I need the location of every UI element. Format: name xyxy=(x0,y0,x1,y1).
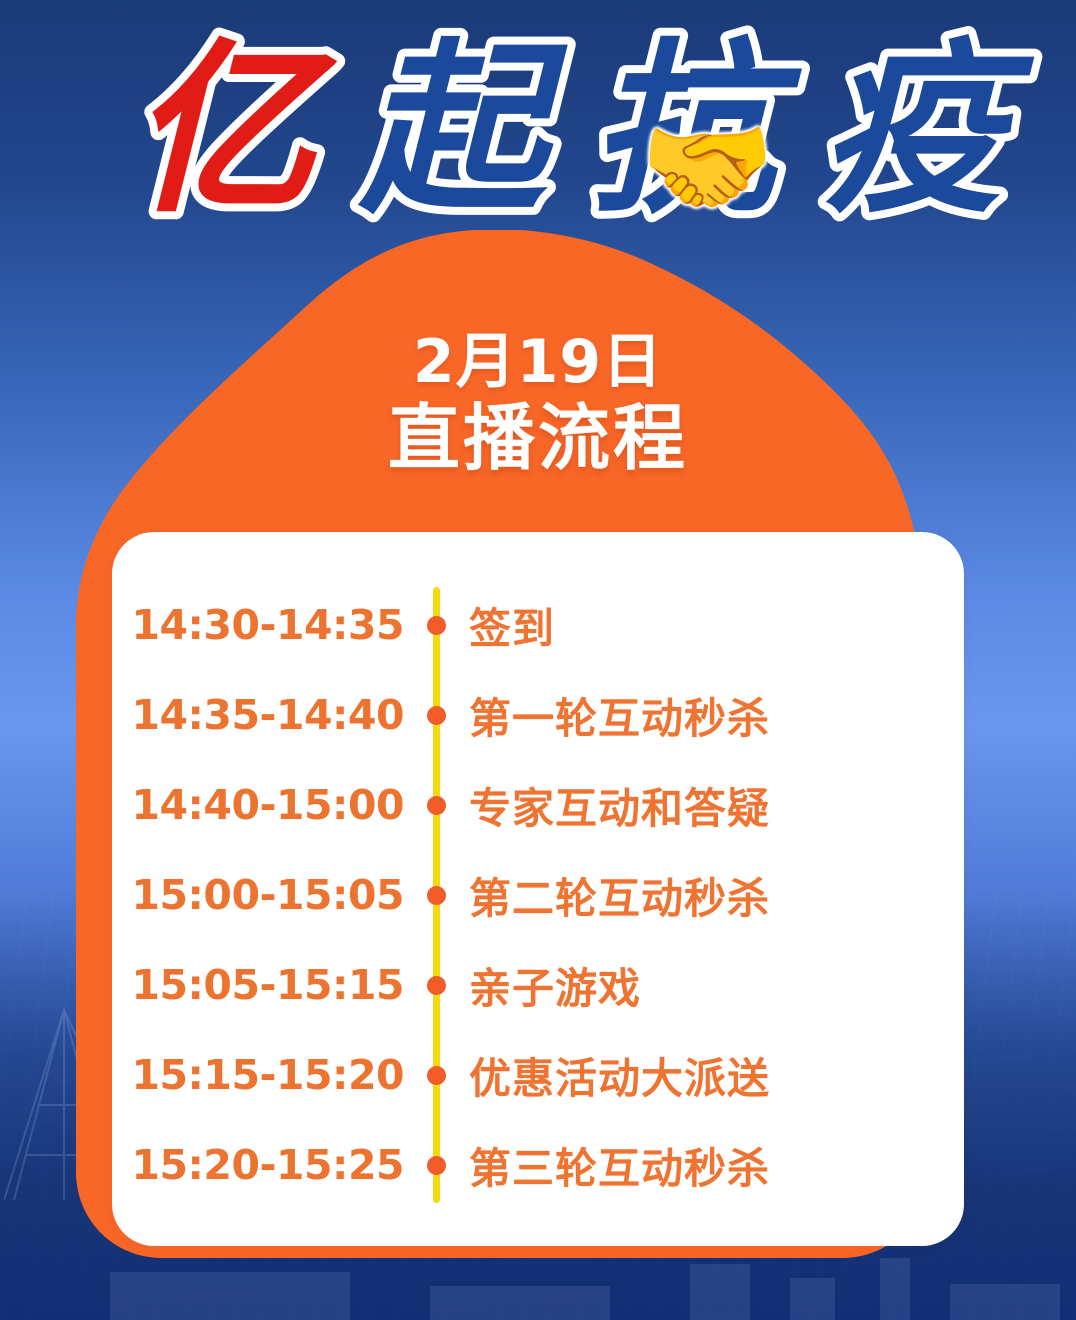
poster-title: 亿 起 抗 疫 🤝 xyxy=(0,18,1076,248)
row-label: 签到 xyxy=(469,595,555,656)
timeline-dot xyxy=(427,976,446,995)
schedule-rows: 14:30-14:35签到14:35-14:40第一轮互动秒杀14:40-15:… xyxy=(112,532,964,1246)
title-char-4: 疫 xyxy=(820,20,1035,238)
timeline-dot xyxy=(427,706,446,725)
row-time: 14:35-14:40 xyxy=(112,691,404,739)
row-label: 第二轮互动秒杀 xyxy=(469,865,770,926)
row-label: 亲子游戏 xyxy=(469,955,641,1016)
row-time: 14:30-14:35 xyxy=(112,601,404,649)
title-char-2: 起 xyxy=(357,20,568,238)
schedule-row[interactable]: 15:15-15:20优惠活动大派送 xyxy=(112,1030,964,1120)
schedule-card: 14:30-14:35签到14:35-14:40第一轮互动秒杀14:40-15:… xyxy=(112,532,964,1246)
timeline-dot xyxy=(427,1066,446,1085)
row-time: 15:00-15:05 xyxy=(112,871,404,919)
poster-title-calligraphy: 亿 起 抗 疫 xyxy=(0,18,1076,248)
live-schedule-poster: 亿 起 抗 疫 🤝 2月19日 直播流程 14:30-14:35签到14:35-… xyxy=(0,0,1076,1320)
timeline-dot xyxy=(427,1156,446,1175)
timeline-dot xyxy=(427,796,446,815)
row-time: 15:15-15:20 xyxy=(112,1051,404,1099)
row-time: 15:20-15:25 xyxy=(112,1141,404,1189)
timeline-dot xyxy=(427,886,446,905)
schedule-row[interactable]: 14:30-14:35签到 xyxy=(112,580,964,670)
row-label: 优惠活动大派送 xyxy=(469,1045,770,1106)
row-time: 14:40-15:00 xyxy=(112,781,404,829)
row-label: 第三轮互动秒杀 xyxy=(469,1135,770,1196)
schedule-row[interactable]: 14:40-15:00专家互动和答疑 xyxy=(112,760,964,850)
schedule-row[interactable]: 15:05-15:15亲子游戏 xyxy=(112,940,964,1030)
row-time: 15:05-15:15 xyxy=(112,961,404,1009)
row-label: 第一轮互动秒杀 xyxy=(469,685,770,746)
handshake-icon: 🤝 xyxy=(640,113,774,221)
title-char-1: 亿 xyxy=(130,20,338,238)
schedule-row[interactable]: 15:20-15:25第三轮互动秒杀 xyxy=(112,1120,964,1210)
schedule-row[interactable]: 14:35-14:40第一轮互动秒杀 xyxy=(112,670,964,760)
row-label: 专家互动和答疑 xyxy=(469,775,770,836)
schedule-row[interactable]: 15:00-15:05第二轮互动秒杀 xyxy=(112,850,964,940)
timeline-dot xyxy=(427,616,446,635)
